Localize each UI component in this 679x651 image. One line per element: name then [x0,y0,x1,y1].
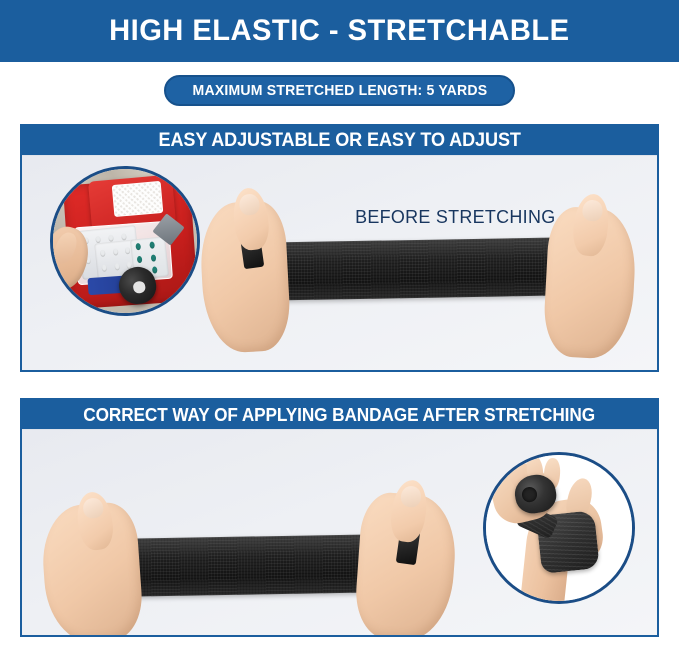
hands-holding-stretched-bandage-photo [38,474,456,637]
page-title: HIGH ELASTIC - STRETCHABLE [109,14,569,48]
first-aid-kit-photo [50,166,200,316]
section-2-body [22,430,657,635]
wrist-wrapping-photo-inner [486,455,632,601]
max-length-badge-label: MAXIMUM STRETCHED LENGTH: 5 YARDS [192,83,487,99]
kit-mesh-pocket [112,181,164,217]
wrist-wrapping-photo [483,452,635,604]
left-thumb-nail [82,497,104,519]
section-1-body: BEFORE STRETCHING [22,156,657,370]
badge-row: MAXIMUM STRETCHED LENGTH: 5 YARDS [0,62,679,119]
left-thumb-nail [239,193,260,216]
top-banner: HIGH ELASTIC - STRETCHABLE [0,0,679,62]
max-length-badge: MAXIMUM STRETCHED LENGTH: 5 YARDS [164,75,516,106]
section-1-header-label: EASY ADJUSTABLE OR EASY TO ADJUST [158,130,520,152]
section-2-header: CORRECT WAY OF APPLYING BANDAGE AFTER ST… [22,400,657,430]
right-thumb-nail [400,485,422,509]
right-thumb-nail [582,199,603,222]
section-2-header-label: CORRECT WAY OF APPLYING BANDAGE AFTER ST… [84,404,596,426]
bandage-strip [238,237,591,301]
hands-holding-unstretched-bandage-photo [210,178,630,364]
section-panel-easy-adjustable: EASY ADJUSTABLE OR EASY TO ADJUST [20,124,659,372]
first-aid-kit-photo-inner [53,169,197,313]
section-panel-correct-way: CORRECT WAY OF APPLYING BANDAGE AFTER ST… [20,398,659,637]
section-1-header: EASY ADJUSTABLE OR EASY TO ADJUST [22,126,657,156]
